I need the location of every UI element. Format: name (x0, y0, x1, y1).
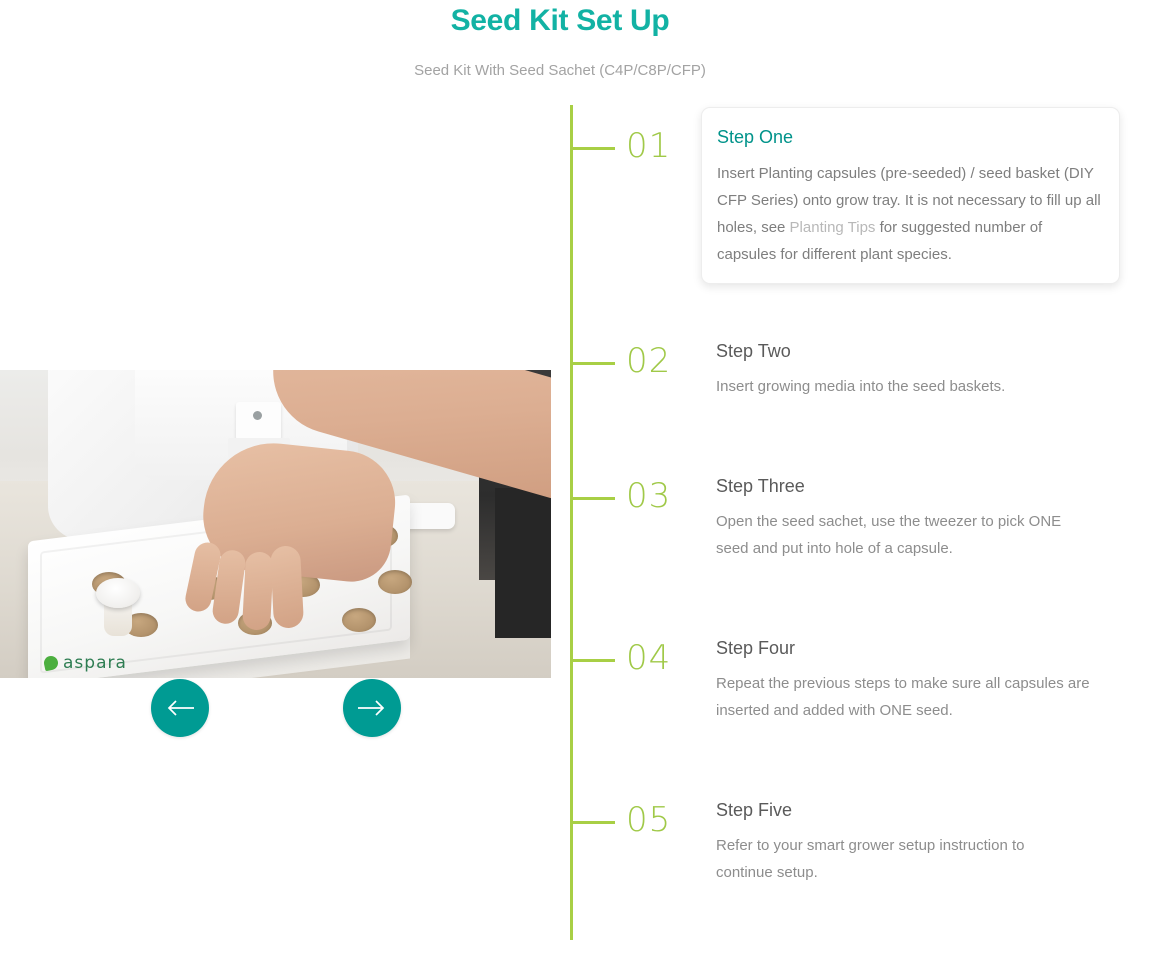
step-four-title: Step Four (716, 638, 1112, 659)
aspara-logo: aspara (44, 653, 127, 673)
planting-tips-link[interactable]: Planting Tips (790, 219, 876, 236)
step-number-02: 02 (626, 341, 671, 381)
step-block-three[interactable]: Step Three Open the seed sachet, use the… (716, 476, 1112, 562)
step-block-two[interactable]: Step Two Insert growing media into the s… (716, 341, 1112, 400)
step-four-body: Repeat the previous steps to make sure a… (716, 670, 1094, 724)
step-five-title: Step Five (716, 800, 1112, 821)
timeline-tick (570, 497, 615, 500)
timeline-tick (570, 362, 615, 365)
seed-kit-setup-page: Seed Kit Set Up Seed Kit With Seed Sache… (0, 0, 1152, 956)
step-block-five[interactable]: Step Five Refer to your smart grower set… (716, 800, 1112, 886)
photo-finger (242, 551, 274, 630)
step-number-04: 04 (626, 638, 671, 678)
step-one-title: Step One (717, 127, 1103, 148)
page-subtitle: Seed Kit With Seed Sachet (C4P/C8P/CFP) (0, 62, 1120, 79)
photo-thumb (270, 545, 304, 628)
photo-illustration: aspara (0, 370, 551, 678)
timeline-tick (570, 147, 615, 150)
arrow-right-icon (357, 698, 387, 718)
step-two-body: Insert growing media into the seed baske… (716, 373, 1112, 400)
carousel-next-button[interactable] (343, 679, 401, 737)
arrow-left-icon (165, 698, 195, 718)
photo-capsule-rim (96, 578, 140, 608)
page-title: Seed Kit Set Up (0, 4, 1120, 38)
timeline-tick (570, 821, 615, 824)
step-number-01: 01 (626, 126, 671, 166)
timeline-tick (570, 659, 615, 662)
step-number-03: 03 (626, 476, 671, 516)
photo-arm-group (148, 370, 551, 660)
step-three-body: Open the seed sachet, use the tweezer to… (716, 508, 1088, 562)
step-one-body: Insert Planting capsules (pre-seeded) / … (717, 160, 1103, 268)
step-block-four[interactable]: Step Four Repeat the previous steps to m… (716, 638, 1112, 724)
timeline-spine (570, 105, 573, 940)
aspara-logo-text: aspara (63, 653, 127, 673)
step-three-title: Step Three (716, 476, 1112, 497)
step-five-body: Refer to your smart grower setup instruc… (716, 832, 1080, 886)
step-two-title: Step Two (716, 341, 1112, 362)
leaf-icon (43, 655, 60, 672)
step-photo: aspara (0, 370, 551, 678)
step-card-one[interactable]: Step One Insert Planting capsules (pre-s… (701, 107, 1120, 284)
step-number-05: 05 (626, 800, 671, 840)
carousel-prev-button[interactable] (151, 679, 209, 737)
